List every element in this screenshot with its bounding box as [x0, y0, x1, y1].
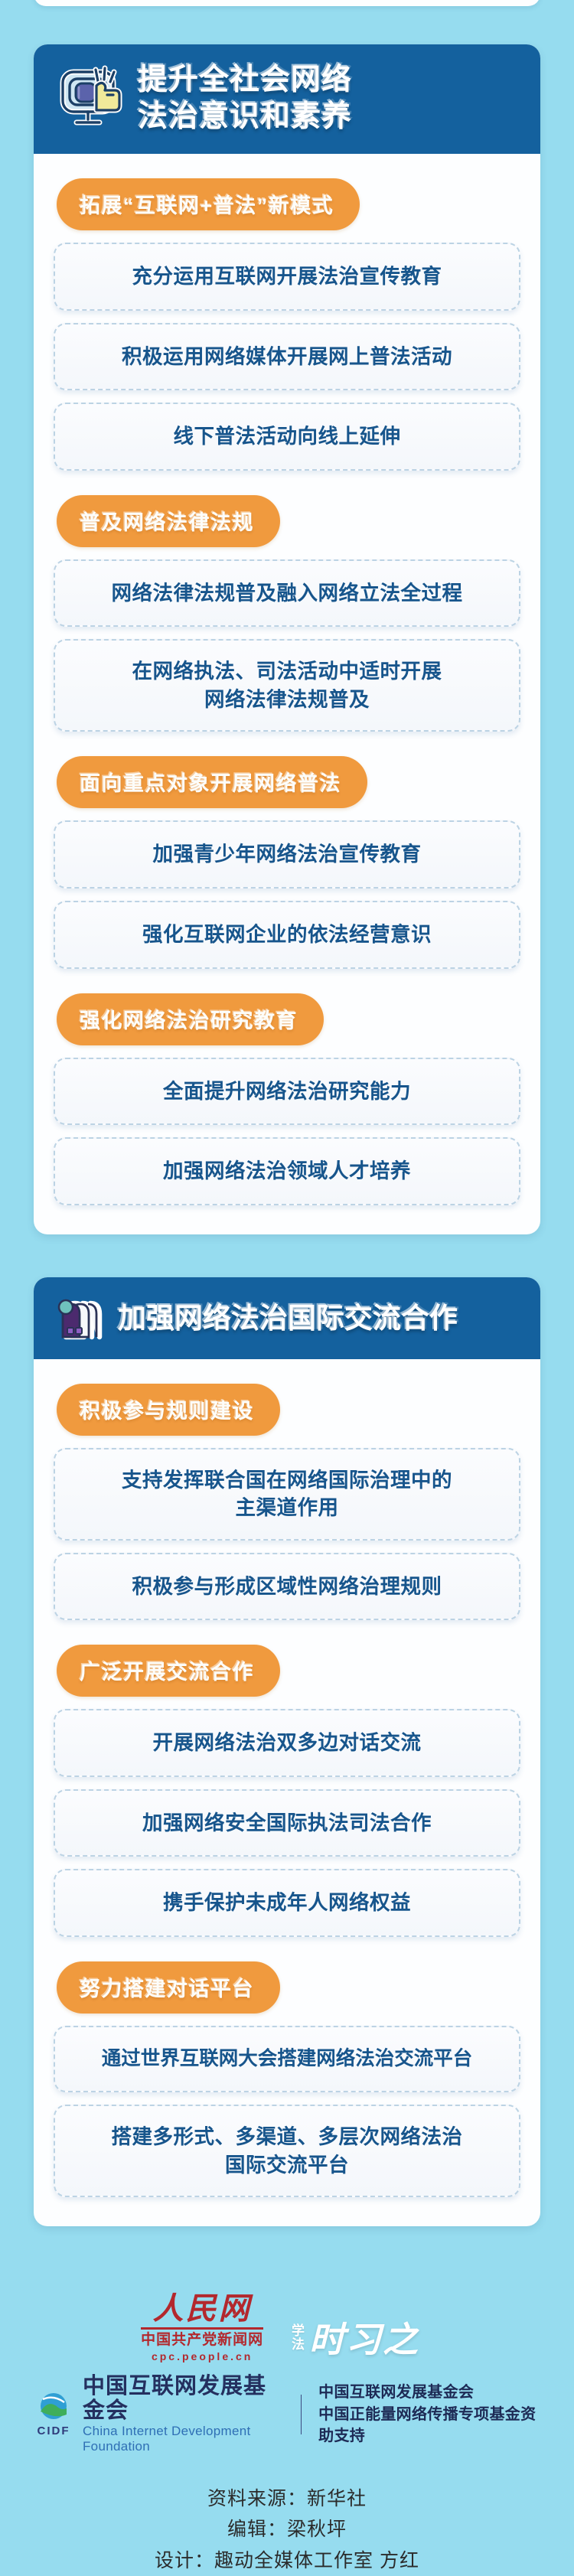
people-heads-icon: [51, 1288, 107, 1348]
list-item: 积极运用网络媒体开展网上普法活动: [54, 323, 520, 391]
cidf-name-cn: 中国互联网发展基金会: [83, 2375, 284, 2424]
list-item: 搭建多形式、多渠道、多层次网络法治 国际交流平台: [54, 2105, 520, 2197]
list-item: 通过世界互联网大会搭建网络法治交流平台: [54, 2026, 520, 2092]
credits-block: 资料来源：新华社 编辑：梁秋坪 设计：趣动全媒体工作室 方红: [34, 2454, 540, 2576]
section-1-body: 拓展“互联网+普法”新模式 充分运用互联网开展法治宣传教育 积极运用网络媒体开展…: [34, 154, 540, 1234]
list-item: 加强青少年网络法治宣传教育: [54, 820, 520, 889]
section-2-title: 加强网络法治国际交流合作: [118, 1301, 458, 1335]
section-card-2: 加强网络法治国际交流合作 积极参与规则建设 支持发挥联合国在网络国际治理中的 主…: [34, 1277, 540, 2227]
group-pill-dialogue-platform: 努力搭建对话平台: [57, 1961, 280, 2014]
infographic-page: 提升全社会网络 法治意识和素养 拓展“互联网+普法”新模式 充分运用互联网开展法…: [0, 0, 574, 2226]
list-item-line-1: 支持发挥联合国在网络国际治理中的: [69, 1466, 505, 1495]
list-item: 在网络执法、司法活动中适时开展 网络法律法规普及: [54, 639, 520, 732]
section-2-title-line-1: 加强网络法治国际交流合作: [118, 1301, 458, 1335]
section-1-title-line-1: 提升全社会网络: [138, 62, 352, 99]
shixizhi-logo: 学法 时习之: [289, 2312, 433, 2362]
divider: [301, 2395, 302, 2434]
credit-designer: 设计：趣动全媒体工作室 方红: [34, 2545, 540, 2576]
monitor-thumbs-up-icon: [54, 60, 127, 137]
section-card-1: 提升全社会网络 法治意识和素养 拓展“互联网+普法”新模式 充分运用互联网开展法…: [34, 44, 540, 1234]
credit-editor: 编辑：梁秋坪: [34, 2514, 540, 2545]
list-item: 支持发挥联合国在网络国际治理中的 主渠道作用: [54, 1448, 520, 1541]
cidf-support-text: 中国互联网发展基金会 中国正能量网络传播专项基金资助支持: [318, 2382, 540, 2447]
list-item: 加强网络法治领域人才培养: [54, 1137, 520, 1205]
cidf-support-line-2: 中国正能量网络传播专项基金资助支持: [318, 2404, 540, 2447]
section-2-body: 积极参与规则建设 支持发挥联合国在网络国际治理中的 主渠道作用 积极参与形成区域…: [34, 1359, 540, 2227]
cidf-names: 中国互联网发展基金会 China Internet Development Fo…: [83, 2375, 284, 2454]
group-pill-participate-rules: 积极参与规则建设: [57, 1384, 280, 1436]
group-pill-popularize-laws: 普及网络法律法规: [57, 495, 280, 547]
peoples-daily-brush-text: 人民网: [141, 2294, 263, 2324]
shixizhi-small-text: 学法: [289, 2323, 303, 2351]
list-item: 携手保护未成年人网络权益: [54, 1869, 520, 1937]
section-1-header: 提升全社会网络 法治意识和素养: [34, 44, 540, 154]
section-1-title: 提升全社会网络 法治意识和素养: [138, 62, 352, 135]
list-item: 全面提升网络法治研究能力: [54, 1058, 520, 1126]
list-item: 开展网络法治双多边对话交流: [54, 1709, 520, 1777]
cidf-abbr: CIDF: [34, 2424, 73, 2437]
group-pill-expand-internet-plus: 拓展“互联网+普法”新模式: [57, 178, 360, 230]
list-item: 积极参与形成区域性网络治理规则: [54, 1553, 520, 1621]
list-item: 强化互联网企业的依法经营意识: [54, 901, 520, 969]
cidf-row: CIDF 中国互联网发展基金会 China Internet Developme…: [34, 2362, 540, 2454]
group-pill-research-education: 强化网络法治研究教育: [57, 993, 324, 1045]
cidf-support-line-1: 中国互联网发展基金会: [318, 2382, 540, 2403]
peoples-daily-subtitle: 中国共产党新闻网: [141, 2332, 263, 2349]
section-1-title-line-2: 法治意识和素养: [138, 99, 352, 135]
peoples-daily-url: cpc.people.cn: [141, 2350, 263, 2362]
cidf-globe-icon: [34, 2392, 73, 2422]
list-item-line-1: 在网络执法、司法活动中适时开展: [69, 657, 505, 686]
group-pill-exchange-cooperation: 广泛开展交流合作: [57, 1645, 280, 1697]
shixizhi-big-text: 时习之: [309, 2312, 419, 2362]
list-item-line-2: 主渠道作用: [69, 1494, 505, 1522]
list-item: 充分运用互联网开展法治宣传教育: [54, 243, 520, 311]
list-item: 加强网络安全国际执法司法合作: [54, 1789, 520, 1857]
peoples-daily-logo: 人民网 中国共产党新闻网 cpc.people.cn: [141, 2294, 263, 2362]
list-item: 线下普法活动向线上延伸: [54, 403, 520, 471]
credit-source: 资料来源：新华社: [34, 2483, 540, 2515]
group-pill-key-audiences: 面向重点对象开展网络普法: [57, 756, 367, 808]
list-item-line-1: 搭建多形式、多渠道、多层次网络法治: [69, 2123, 505, 2151]
section-2-header: 加强网络法治国际交流合作: [34, 1277, 540, 1359]
list-item-line-2: 网络法律法规普及: [69, 686, 505, 714]
cidf-logo-mark: CIDF: [34, 2392, 73, 2437]
cidf-name-en: China Internet Development Foundation: [83, 2424, 284, 2454]
list-item: 网络法律法规普及融入网络立法全过程: [54, 559, 520, 628]
list-item-line-2: 国际交流平台: [69, 2151, 505, 2180]
divider: [141, 2327, 263, 2330]
footer: 人民网 中国共产党新闻网 cpc.people.cn 学法 时习之 CIDF 中…: [0, 2269, 574, 2576]
